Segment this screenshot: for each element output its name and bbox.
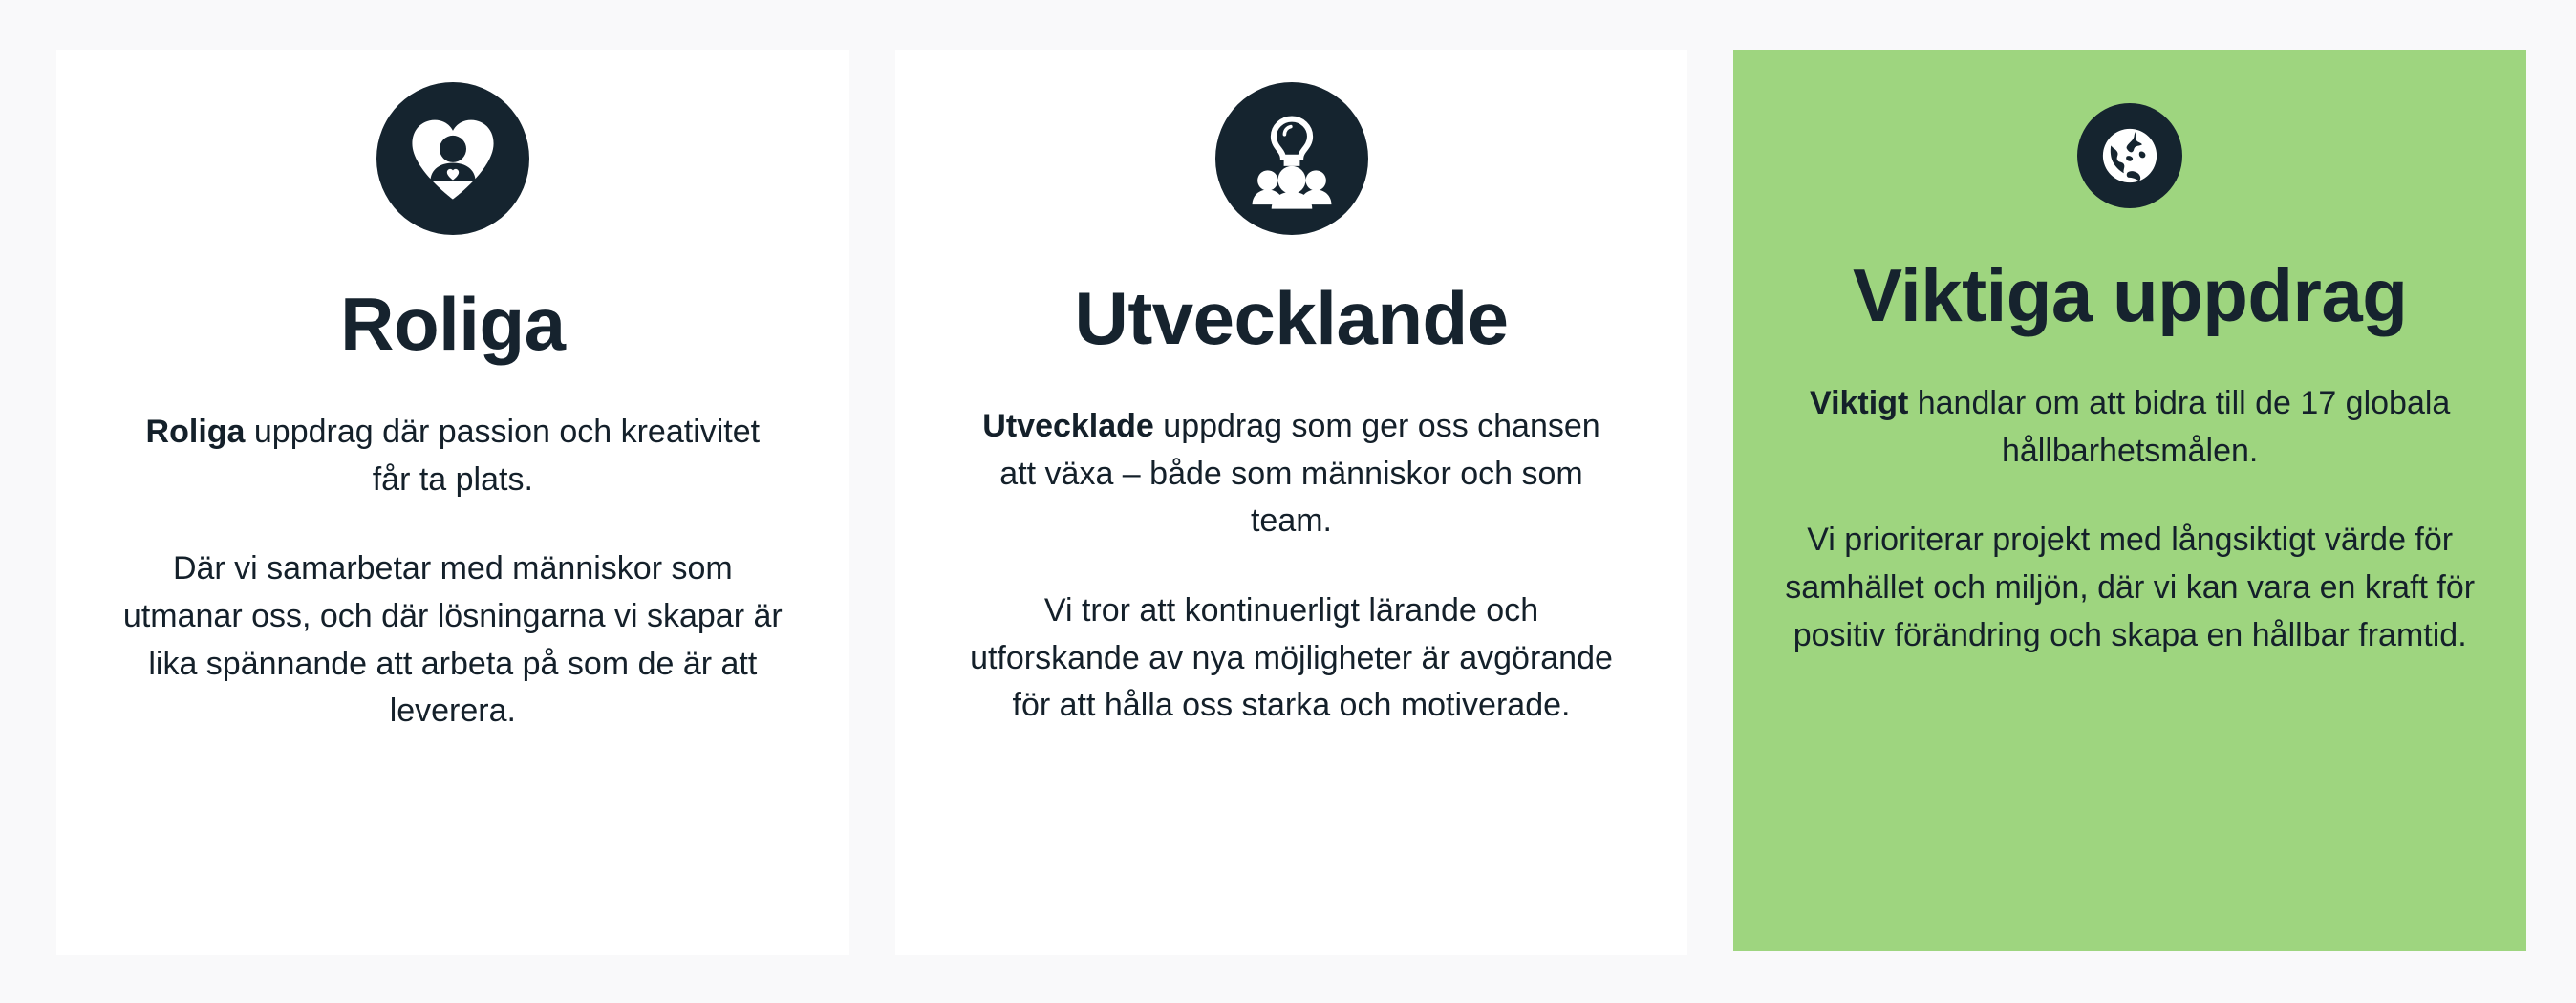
- card-paragraph-1: Utvecklade uppdrag som ger oss chansen a…: [962, 403, 1621, 545]
- values-cards-board: Roliga Roliga uppdrag där passion och kr…: [0, 0, 2576, 1003]
- value-card-viktiga-uppdrag[interactable]: Viktiga uppdrag Viktigt handlar om att b…: [1733, 50, 2526, 951]
- card-paragraph-rest: uppdrag där passion och kreativitet får …: [245, 414, 760, 498]
- card-paragraph-1: Viktigt handlar om att bidra till de 17 …: [1776, 380, 2483, 475]
- card-paragraph-2: Vi tror att kontinuerligt lärande och ut…: [962, 587, 1621, 730]
- globe-icon: [2077, 103, 2182, 208]
- card-paragraph-2: Där vi samarbetar med människor som utma…: [123, 545, 783, 736]
- card-paragraph-lead: Viktigt: [1810, 385, 1908, 421]
- value-card-roliga[interactable]: Roliga Roliga uppdrag där passion och kr…: [56, 50, 849, 955]
- card-paragraph-2: Vi prioriterar projekt med långsiktigt v…: [1776, 517, 2483, 659]
- card-paragraph-1: Roliga uppdrag där passion och kreativit…: [123, 409, 783, 503]
- heart-person-icon: [376, 82, 529, 235]
- card-paragraph-lead: Roliga: [146, 414, 246, 450]
- cards-row: Roliga Roliga uppdrag där passion och kr…: [0, 0, 2576, 1003]
- lightbulb-team-icon: [1215, 82, 1368, 235]
- value-card-utvecklande[interactable]: Utvecklande Utvecklade uppdrag som ger o…: [895, 50, 1688, 955]
- card-paragraph-lead: Utvecklade: [982, 408, 1154, 444]
- card-title: Roliga: [340, 287, 565, 361]
- card-paragraph-rest: handlar om att bidra till de 17 globala …: [1908, 385, 2450, 469]
- card-title: Utvecklande: [1074, 281, 1508, 355]
- card-title: Viktiga uppdrag: [1853, 258, 2407, 332]
